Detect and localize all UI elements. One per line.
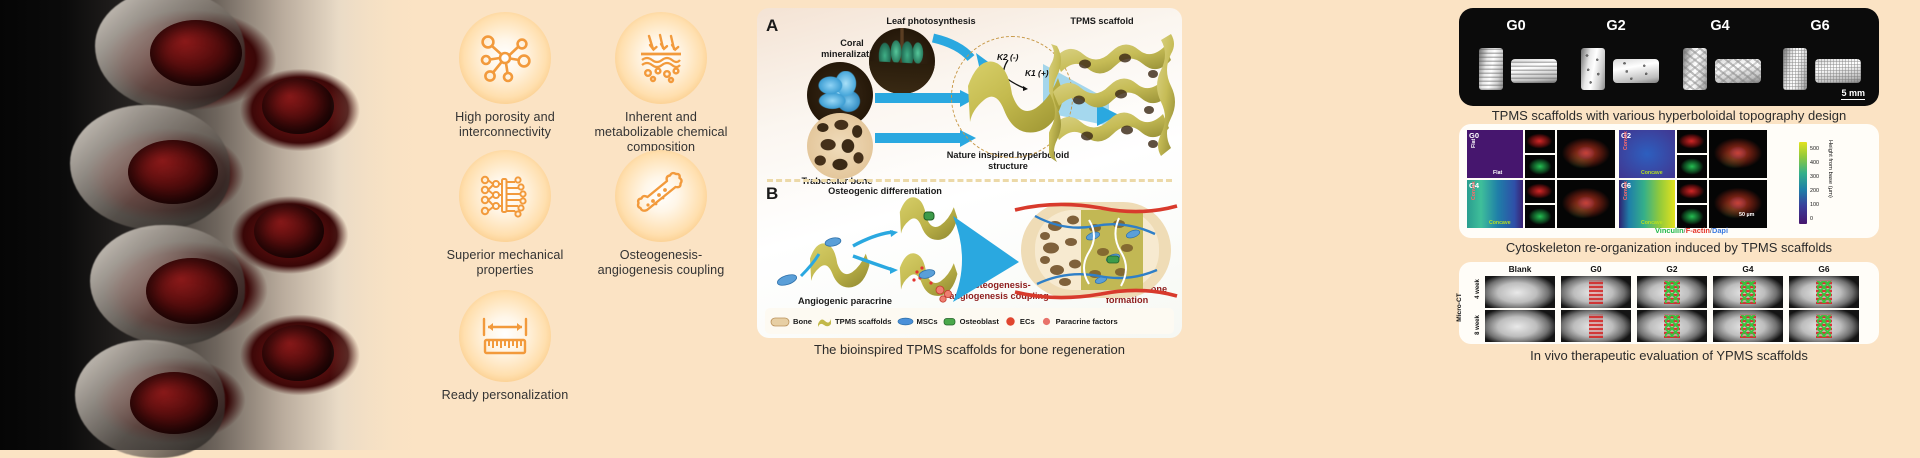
k1-label: K1 (+) xyxy=(1025,68,1049,78)
group-label-g2: G2 xyxy=(1581,18,1651,34)
legend-item-ecs: ECs xyxy=(1004,315,1035,328)
microct-col-g2: G2 xyxy=(1635,264,1709,274)
stain-vinculin: Vinculin xyxy=(1655,226,1684,235)
stain-legend: Vinculin/F-actin/Dapi xyxy=(1655,220,1728,238)
cytoskeleton-panel: G0 Flat Flat G2 Convex Concave G4 Convex… xyxy=(1459,124,1879,238)
vinculin-channel-g0 xyxy=(1525,155,1555,178)
scaffold-horizontal xyxy=(1613,59,1659,83)
group-label-g4: G4 xyxy=(1685,18,1755,34)
feature-personalization[interactable]: Ready personalization xyxy=(430,290,580,403)
scaffold-pore xyxy=(128,140,218,204)
f-actin-channel-g4 xyxy=(1525,180,1555,203)
paracrine-swatch xyxy=(1040,315,1053,328)
colorbar-title: Height from base (µm) xyxy=(1827,140,1833,198)
scaffold-pore xyxy=(262,78,334,134)
scaffold-specimen-g6 xyxy=(1779,46,1865,92)
y-axis-label: Flat xyxy=(1471,139,1477,148)
scale-bar-label: 5 mm xyxy=(1841,88,1865,100)
microct-image xyxy=(1561,310,1631,342)
f-actin-channel-g0 xyxy=(1525,130,1555,153)
stain-f-actin: F-actin xyxy=(1686,226,1710,235)
microct-panel: Micro-CT 4 week 8 week Blank G0 G2 G4 G6 xyxy=(1459,262,1879,344)
legend-label: Bone xyxy=(793,317,812,326)
microct-col-blank: Blank xyxy=(1483,264,1557,274)
scaffold-vertical xyxy=(1581,48,1605,90)
microct-image xyxy=(1637,310,1707,342)
x-axis-label: Concave xyxy=(1641,170,1663,176)
merged-channel-g2 xyxy=(1709,130,1767,178)
microct-image xyxy=(1789,276,1859,308)
feature-label: Osteogenesis- angiogenesis coupling xyxy=(586,248,736,278)
topography-map-g4: G4 Convex Concave xyxy=(1467,180,1523,228)
microct-row-8week: 8 week xyxy=(1475,315,1481,335)
stain-dapi: Dapi xyxy=(1712,226,1728,235)
msc-swatch xyxy=(897,315,914,328)
degradation-arrows-icon xyxy=(615,12,707,104)
legend-item-osteoblast: Osteoblast xyxy=(943,315,999,328)
legend-item-tpms-scaffolds: TPMS scaffolds xyxy=(817,315,892,328)
colorbar-tick: 400 xyxy=(1810,160,1819,166)
legend-label: Osteoblast xyxy=(960,317,999,326)
scaffold-vertical xyxy=(1479,48,1503,90)
scaffold-pore xyxy=(150,20,242,86)
scaffold-horizontal xyxy=(1715,59,1761,83)
scaffold-pore xyxy=(262,325,334,381)
microct-image xyxy=(1485,276,1555,308)
feature-mechanics[interactable]: Superior mechanical properties xyxy=(430,150,580,278)
legend-item-mscs: MSCs xyxy=(897,315,938,328)
merged-channel-g0 xyxy=(1557,130,1615,178)
scaffold-horizontal xyxy=(1815,59,1861,83)
colorbar-tick: 100 xyxy=(1810,202,1819,208)
bone-icon xyxy=(615,150,707,242)
microct-image xyxy=(1561,276,1631,308)
y-axis-label: Convex xyxy=(1623,181,1629,200)
tpms-swatch xyxy=(817,315,832,328)
vinculin-channel-g2 xyxy=(1677,155,1707,178)
group-label-g6: G6 xyxy=(1785,18,1855,34)
scaffold-vertical xyxy=(1783,48,1807,90)
scaffold-pore xyxy=(146,258,238,324)
group-label-g0: G0 xyxy=(1481,18,1551,34)
sem-micrograph xyxy=(0,0,470,450)
feature-porosity[interactable]: High porosity and interconnectivity xyxy=(430,12,580,140)
legend-item-paracrine-factors: Paracrine factors xyxy=(1040,315,1118,328)
panel-b-graphics xyxy=(757,180,1182,320)
scaffold-specimen-g2 xyxy=(1577,46,1663,92)
k2-label: K2 (-) xyxy=(997,52,1018,62)
center-mechanism-card: A Coral mineralization Leaf photosynthes… xyxy=(757,8,1182,338)
microct-row-4week: 4 week xyxy=(1475,279,1481,299)
fluorescence-scale-bar: 50 µm xyxy=(1739,212,1754,218)
scaffold-horizontal xyxy=(1511,59,1557,83)
microct-row-title: Micro-CT xyxy=(1456,293,1463,322)
legend-label: TPMS scaffolds xyxy=(835,317,892,326)
microct-col-g6: G6 xyxy=(1787,264,1861,274)
legend-item-bone: Bone xyxy=(770,315,812,328)
center-caption: The bioinspired TPMS scaffolds for bone … xyxy=(757,342,1182,357)
colorbar-tick: 300 xyxy=(1810,174,1819,180)
colorbar-tick: 200 xyxy=(1810,188,1819,194)
ruler-measure-icon xyxy=(459,290,551,382)
tpms-scaffold-block xyxy=(1049,30,1177,170)
scaffold-photo-panel: G0 G2 G4 G6 5 mm xyxy=(1459,8,1879,106)
merged-channel-g4 xyxy=(1557,180,1615,228)
y-axis-label: Convex xyxy=(1623,131,1629,150)
f-actin-channel-g2 xyxy=(1677,130,1707,153)
scaffold-specimen-g0 xyxy=(1475,46,1561,92)
microct-image xyxy=(1789,310,1859,342)
microct-image xyxy=(1713,310,1783,342)
x-axis-label: Concave xyxy=(1489,220,1511,226)
scale-bar: 5 mm xyxy=(1841,88,1865,100)
osteoblast-swatch xyxy=(943,315,957,328)
colorbar-tick: 500 xyxy=(1810,146,1819,152)
microct-image xyxy=(1637,276,1707,308)
x-axis-label: Flat xyxy=(1493,170,1502,176)
colorbar-tick: 0 xyxy=(1810,216,1813,222)
neural-network-icon xyxy=(459,150,551,242)
legend-label: Paracrine factors xyxy=(1056,317,1118,326)
microct-col-g4: G4 xyxy=(1711,264,1785,274)
feature-label: Ready personalization xyxy=(430,388,580,403)
network-nodes-icon xyxy=(459,12,551,104)
y-axis-label: Convex xyxy=(1471,181,1477,200)
legend-label: MSCs xyxy=(917,317,938,326)
microct-image xyxy=(1713,276,1783,308)
scaffold-pore xyxy=(254,204,324,258)
scaffold-photos-caption: TPMS scaffolds with various hyperboloida… xyxy=(1459,108,1879,123)
microct-col-g0: G0 xyxy=(1559,264,1633,274)
panel-b-legend: Bone TPMS scaffolds MSCs Osteoblast xyxy=(765,308,1174,334)
scaffold-vertical xyxy=(1683,48,1707,90)
graphical-abstract: High porosity and interconnectivity Inhe… xyxy=(0,0,1920,450)
f-actin-channel-g6 xyxy=(1677,180,1707,203)
height-colorbar xyxy=(1799,142,1807,224)
feature-label: High porosity and interconnectivity xyxy=(430,110,580,140)
feature-icon-grid: High porosity and interconnectivity Inhe… xyxy=(430,8,740,442)
ec-swatch xyxy=(1004,315,1017,328)
vinculin-channel-g4 xyxy=(1525,205,1555,228)
invivo-caption: In vivo therapeutic evaluation of YPMS s… xyxy=(1459,348,1879,363)
x-axis-label: Concave xyxy=(1641,220,1663,226)
scaffold-pore xyxy=(130,372,218,434)
microct-image xyxy=(1485,310,1555,342)
feature-coupling[interactable]: Osteogenesis- angiogenesis coupling xyxy=(586,150,736,278)
feature-chemistry[interactable]: Inherent and metabolizable chemical comp… xyxy=(586,12,736,155)
bone-swatch xyxy=(770,315,790,328)
scaffold-specimen-g4 xyxy=(1679,46,1765,92)
feature-label: Superior mechanical properties xyxy=(430,248,580,278)
feature-label: Inherent and metabolizable chemical comp… xyxy=(586,110,736,155)
topography-map-g2: G2 Convex Concave xyxy=(1619,130,1675,178)
legend-label: ECs xyxy=(1020,317,1035,326)
topography-map-g0: G0 Flat Flat xyxy=(1467,130,1523,178)
cytoskeleton-caption: Cytoskeleton re-organization induced by … xyxy=(1459,240,1879,255)
